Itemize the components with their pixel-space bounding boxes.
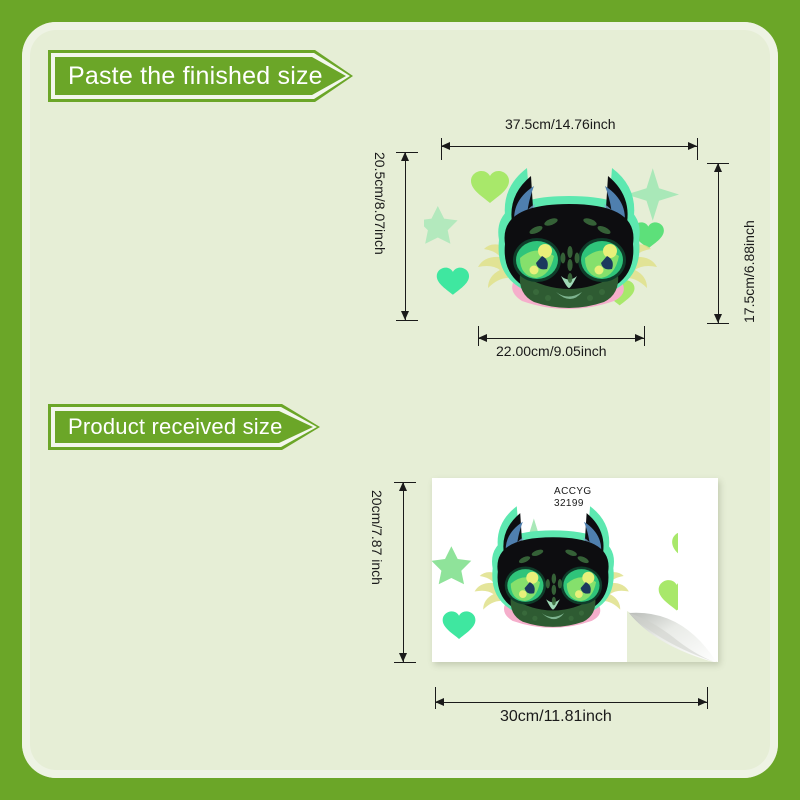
product-size-infographic: Paste the finished size 37.5cm/14.76inch…: [0, 0, 800, 800]
received-bottom-dimension-label: 30cm/11.81inch: [500, 708, 612, 726]
received-bottom-tick-right: [707, 687, 708, 709]
finished-bottom-dimension-line: [478, 338, 644, 339]
received-bottom-arrow-right-icon: [698, 698, 707, 706]
peeling-corner-icon: [627, 587, 718, 662]
finished-top-arrow-right-icon: [688, 142, 697, 150]
banner-received-label: Product received size: [48, 414, 283, 440]
finished-left-dimension-line: [405, 152, 406, 320]
finished-bottom-arrow-left-icon: [478, 334, 487, 342]
received-bottom-dimension-line: [435, 702, 707, 703]
finished-bottom-dimension-label: 22.00cm/9.05inch: [496, 343, 607, 359]
finished-right-arrow-down-icon: [714, 314, 722, 323]
finished-right-arrow-up-icon: [714, 163, 722, 172]
received-bottom-arrow-left-icon: [435, 698, 444, 706]
finished-right-dimension-label: 17.5cm/6.88inch: [741, 220, 757, 323]
panel-inner-highlight: [22, 22, 778, 778]
finished-top-dimension-label: 37.5cm/14.76inch: [505, 116, 616, 132]
finished-top-arrow-left-icon: [441, 142, 450, 150]
received-left-arrow-up-icon: [399, 482, 407, 491]
finished-left-dimension-label: 20.5cm/8.07inch: [372, 152, 388, 255]
received-left-tick-bottom: [394, 662, 416, 663]
cat-head-sheet: [492, 506, 614, 627]
finished-left-arrow-up-icon: [401, 152, 409, 161]
finished-left-arrow-down-icon: [401, 311, 409, 320]
received-left-dimension-line: [403, 482, 404, 662]
sheet-code-line1: ACCYG: [554, 486, 592, 498]
sheet-code-line2: 32199: [554, 498, 592, 510]
received-left-arrow-down-icon: [399, 653, 407, 662]
sticker-sheet: ACCYG 32199: [432, 478, 718, 662]
received-left-dimension-label: 20cm/7.87 inch: [369, 490, 385, 585]
finished-left-tick-bottom: [396, 320, 418, 321]
banner-paste-finished-size: Paste the finished size: [48, 50, 353, 102]
banner-paste-label: Paste the finished size: [48, 62, 323, 91]
finished-right-dimension-line: [718, 163, 719, 323]
content-panel: [22, 22, 778, 778]
finished-bottom-arrow-right-icon: [635, 334, 644, 342]
finished-top-dimension-line: [441, 146, 697, 147]
sheet-product-code: ACCYG 32199: [554, 486, 592, 510]
cat-sticker-illustration-top: [424, 152, 714, 332]
banner-product-received-size: Product received size: [48, 404, 320, 450]
cat-head: [498, 168, 639, 308]
